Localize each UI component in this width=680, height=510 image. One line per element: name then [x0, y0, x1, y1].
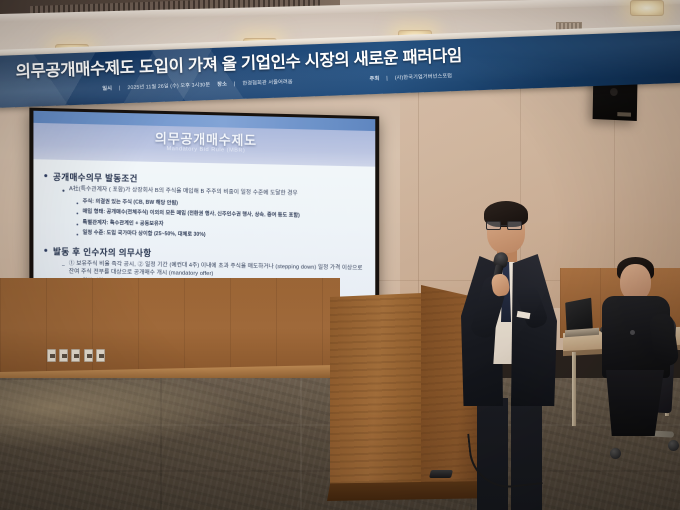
banner-place-label: 장소 [217, 80, 227, 87]
slide-heading-text: 발동 후 인수자의 의무사항 [53, 245, 151, 259]
bullet-icon: ● [76, 230, 78, 239]
glasses-left-lens [486, 221, 501, 230]
seated-attendee [600, 252, 678, 432]
floor-cable-plate [429, 470, 453, 478]
slide-detail-text: 일정 수준: 도입 국가마다 상이함 (25~50%, 대체로 30%) [83, 230, 206, 241]
wall-outlet-icon [84, 349, 93, 362]
bullet-icon: ● [76, 219, 78, 228]
slide-body: ● 공개매수의무 발동조건 ● A社(특수관계자 ( 포함)가 상장회사 B의 … [33, 163, 375, 291]
glasses-icon [486, 221, 526, 230]
slide-section-heading: ● 발동 후 인수자의 의무사항 [44, 245, 366, 262]
wood-wall-panel [0, 278, 340, 378]
speaker-cone [610, 88, 618, 96]
chair-caster [610, 448, 621, 459]
banner-sep-1: | [119, 85, 121, 91]
slide-detail-text: 주식: 의결권 있는 주식 (CB, BW 해당 안됨) [83, 198, 178, 209]
banner-sep-2: | [234, 81, 236, 87]
slide-detail-text: 특별관계자: 특수관계인 + 공동보유자 [83, 219, 164, 230]
bullet-icon: ● [76, 208, 78, 217]
banner-host-label: 주최 [369, 75, 379, 82]
slide-heading-text: 공개매수의무 발동조건 [53, 171, 138, 185]
bullet-icon: ● [44, 171, 48, 183]
ceiling-light-icon [630, 0, 664, 16]
wall-outlet-icon [96, 349, 105, 362]
banner-sep-3: | [386, 76, 388, 82]
presenter-jacket-right [511, 254, 557, 406]
lectern-front-panel [330, 293, 422, 493]
conference-photo-scene: 의무공개매수제도 도입이 가져 올 기업인수 시장의 새로운 패러다임 일시 |… [0, 0, 680, 510]
speaker-badge [617, 112, 631, 117]
table-leg [572, 352, 576, 426]
bullet-icon: ● [62, 186, 65, 196]
dash-bullet-icon: – [62, 261, 65, 276]
bullet-icon: ● [76, 198, 78, 207]
floor-light-pool [0, 380, 250, 450]
attendee-sweater-logo [630, 330, 635, 335]
glasses-right-lens [507, 221, 522, 230]
bullet-icon: ● [44, 245, 48, 257]
wall-outlet-icon [59, 349, 68, 362]
wall-outlet-icon [47, 349, 56, 362]
banner-date-label: 일시 [102, 85, 112, 92]
attendee-legs [606, 370, 664, 436]
wall-outlet-icon [71, 349, 80, 362]
chair-caster [668, 440, 679, 451]
